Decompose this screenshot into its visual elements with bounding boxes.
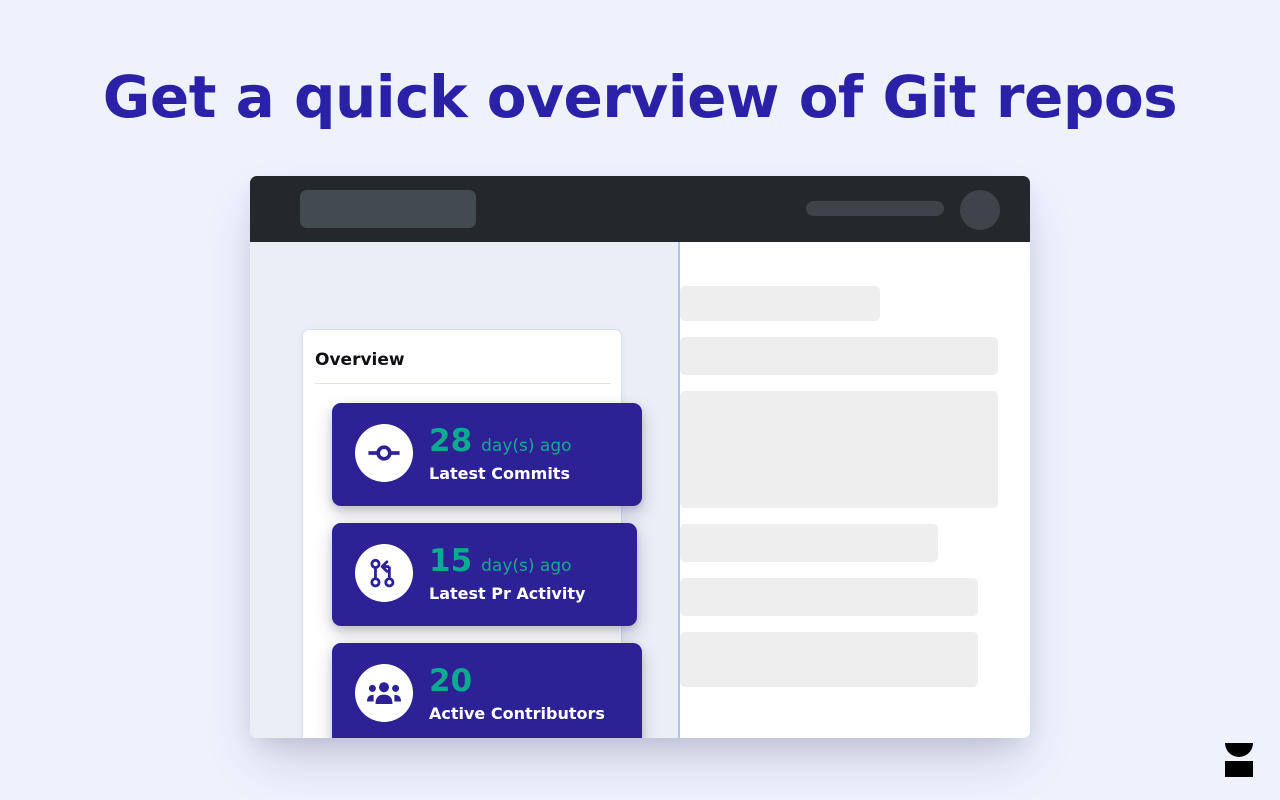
content-placeholder-block xyxy=(680,337,998,375)
brand-logo xyxy=(1217,737,1261,781)
content-placeholder-block xyxy=(680,391,998,508)
content-placeholder-block xyxy=(680,524,938,562)
user-avatar-placeholder[interactable] xyxy=(960,190,1000,230)
content-placeholder-block xyxy=(680,286,880,321)
stat-card-latest-pr-activity[interactable]: 15 day(s) ago Latest Pr Activity xyxy=(332,523,637,626)
browser-content-area: Overview 28 day(s) ago Latest Commits xyxy=(250,242,1030,738)
stat-value-row: 15 day(s) ago xyxy=(429,544,585,578)
content-placeholder-block xyxy=(680,578,978,616)
stat-text-group: 20 Active Contributors xyxy=(429,664,605,723)
stat-text-group: 15 day(s) ago Latest Pr Activity xyxy=(429,544,585,603)
overview-card-divider xyxy=(315,383,611,384)
page-title: Get a quick overview of Git repos xyxy=(0,58,1280,136)
stat-value: 15 xyxy=(429,544,472,578)
stat-value: 20 xyxy=(429,664,472,698)
overview-card-title: Overview xyxy=(315,350,405,370)
content-placeholder-block xyxy=(680,632,978,687)
git-pull-request-icon xyxy=(355,544,413,602)
browser-window-mockup: Overview 28 day(s) ago Latest Commits xyxy=(250,176,1030,738)
stat-card-active-contributors[interactable]: 20 Active Contributors xyxy=(332,643,642,738)
git-commit-icon xyxy=(355,424,413,482)
contributors-group-icon xyxy=(355,664,413,722)
stat-value-row: 28 day(s) ago xyxy=(429,424,572,458)
right-content-pane xyxy=(680,242,1030,738)
stat-label: Latest Commits xyxy=(429,464,572,483)
search-bar-placeholder[interactable] xyxy=(300,190,476,228)
browser-title-bar xyxy=(250,176,1030,242)
stat-card-latest-commits[interactable]: 28 day(s) ago Latest Commits xyxy=(332,403,642,506)
stat-value-row: 20 xyxy=(429,664,605,698)
stat-unit: day(s) ago xyxy=(481,434,571,458)
stat-value: 28 xyxy=(429,424,472,458)
stat-label: Active Contributors xyxy=(429,704,605,723)
stat-label: Latest Pr Activity xyxy=(429,584,585,603)
stat-unit: day(s) ago xyxy=(481,554,571,578)
stat-text-group: 28 day(s) ago Latest Commits xyxy=(429,424,572,483)
nav-pill-placeholder[interactable] xyxy=(806,201,944,216)
